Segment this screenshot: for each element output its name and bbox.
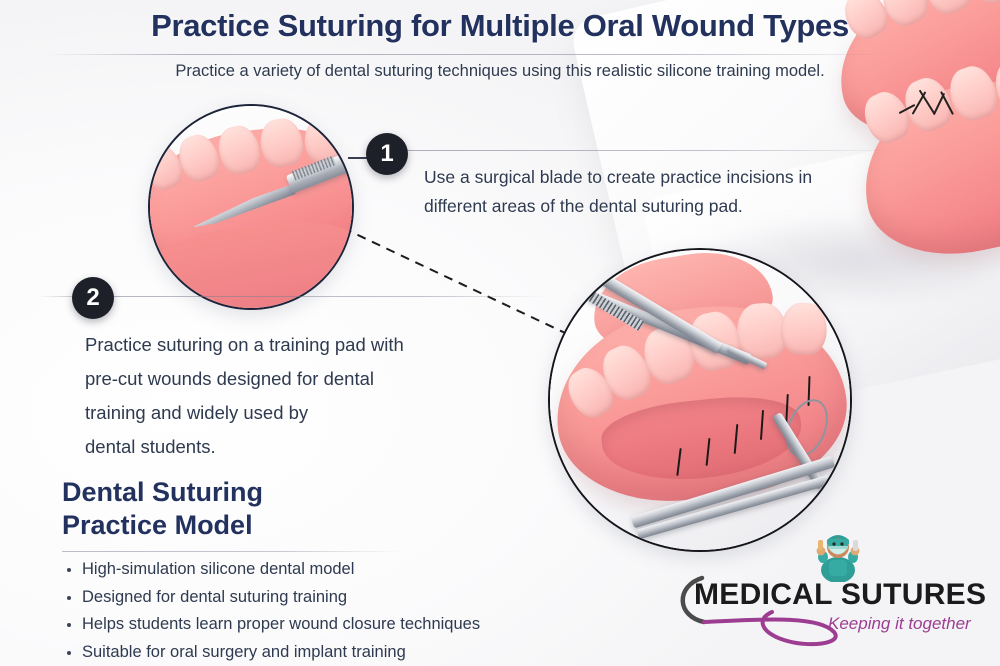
- product-title-line-2: Practice Model: [62, 509, 263, 542]
- product-title: Dental Suturing Practice Model: [62, 476, 263, 542]
- header-divider: [46, 54, 902, 55]
- step-2-description: Practice suturing on a training pad with…: [85, 328, 485, 464]
- page-subtitle: Practice a variety of dental suturing te…: [0, 62, 1000, 81]
- step-1-badge: 1: [366, 133, 408, 175]
- page-title: Practice Suturing for Multiple Oral Woun…: [0, 8, 1000, 44]
- step-2-line-2: pre-cut wounds designed for dental: [85, 362, 485, 396]
- product-title-line-1: Dental Suturing: [62, 476, 263, 509]
- logo-tagline: Keeping it together: [828, 614, 971, 634]
- list-item: Suitable for oral surgery and implant tr…: [62, 639, 622, 666]
- step-2-divider: [38, 296, 546, 297]
- list-item: Designed for dental suturing training: [62, 584, 622, 612]
- step-2-line-3: training and widely used by: [85, 396, 485, 430]
- infographic-canvas: Practice Suturing for Multiple Oral Woun…: [0, 0, 1000, 666]
- step-1-line-1: Use a surgical blade to create practice …: [424, 167, 794, 187]
- logo-wordmark: MEDICAL SUTURES: [694, 578, 986, 612]
- step-2-line-1: Practice suturing on a training pad with: [85, 328, 485, 362]
- product-feature-list: High-simulation silicone dental model De…: [62, 556, 622, 666]
- list-item: High-simulation silicone dental model: [62, 556, 622, 584]
- step-1-divider: [404, 150, 902, 151]
- list-item: Helps students learn proper wound closur…: [62, 611, 622, 639]
- step-1-description: Use a surgical blade to create practice …: [424, 163, 874, 221]
- step-2-badge: 2: [72, 277, 114, 319]
- step-2-line-4: dental students.: [85, 430, 485, 464]
- photo-incision-closeup: [148, 104, 354, 310]
- surgeon-mascot-icon: [810, 530, 866, 582]
- brand-logo: MEDICAL SUTURES Keeping it together: [668, 528, 998, 648]
- photo-suturing-closeup: [548, 248, 852, 552]
- product-divider: [62, 551, 402, 552]
